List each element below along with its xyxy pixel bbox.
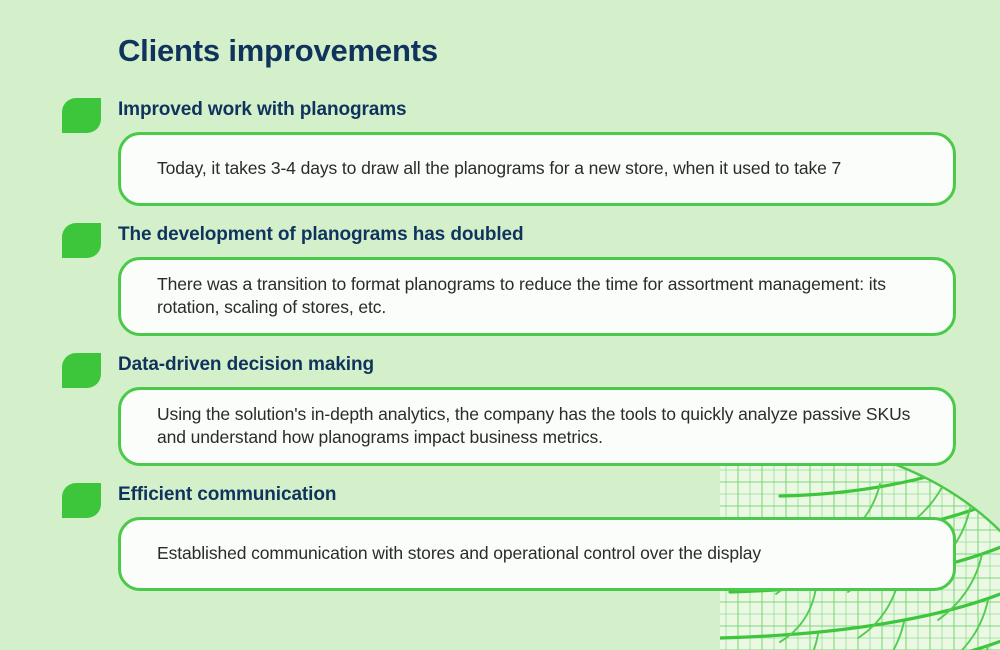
item-card: There was a transition to format planogr…	[118, 257, 956, 336]
item-header: Efficient communication	[0, 477, 1000, 517]
item-title: Improved work with planograms	[118, 99, 406, 121]
item-header: Improved work with planograms	[0, 92, 1000, 132]
item-card: Today, it takes 3-4 days to draw all the…	[118, 132, 956, 206]
item-card: Using the solution's in-depth analytics,…	[118, 387, 956, 466]
list-item: The development of planograms has double…	[0, 217, 1000, 336]
leaf-bullet-icon	[62, 353, 101, 388]
list-item: Data-driven decision making Using the so…	[0, 347, 1000, 466]
item-title: Efficient communication	[118, 484, 336, 506]
leaf-bullet-icon	[62, 483, 101, 518]
list-item: Improved work with planograms Today, it …	[0, 92, 1000, 206]
item-body-text: There was a transition to format planogr…	[157, 273, 929, 320]
item-body-text: Established communication with stores an…	[157, 542, 761, 565]
leaf-bullet-icon	[62, 223, 101, 258]
item-body-text: Using the solution's in-depth analytics,…	[157, 403, 929, 450]
improvements-list: Improved work with planograms Today, it …	[0, 92, 1000, 602]
page-title: Clients improvements	[118, 33, 438, 69]
item-card: Established communication with stores an…	[118, 517, 956, 591]
item-header: Data-driven decision making	[0, 347, 1000, 387]
list-item: Efficient communication Established comm…	[0, 477, 1000, 591]
leaf-bullet-icon	[62, 98, 101, 133]
item-title: The development of planograms has double…	[118, 224, 524, 246]
slide-canvas: Clients improvements Improved work with …	[0, 0, 1000, 650]
item-header: The development of planograms has double…	[0, 217, 1000, 257]
item-body-text: Today, it takes 3-4 days to draw all the…	[157, 157, 841, 180]
item-title: Data-driven decision making	[118, 354, 374, 376]
